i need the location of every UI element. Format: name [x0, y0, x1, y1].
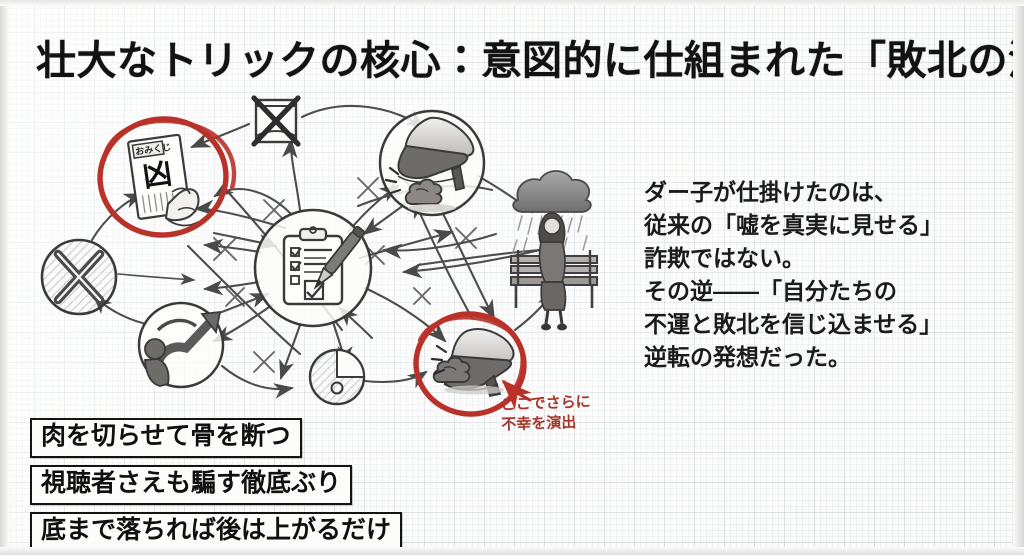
bottom-edge-shadow	[0, 547, 1024, 555]
caption-box-1: 肉を切らせて骨を断つ	[30, 418, 302, 458]
body-line-4: その逆——「自分たちの	[644, 275, 1004, 308]
hand-note-line-2: 不幸を演出	[501, 411, 592, 434]
cross-mark-circle-icon	[42, 240, 116, 314]
shoe-stepping-poop-icon-top	[380, 111, 484, 215]
crossed-out-box-icon	[254, 98, 298, 144]
page-title: 壮大なトリックの核心：意図的に仕組まれた「敗北の演技」	[36, 28, 1024, 86]
caption-box-2: 視聴者さえも騙す徹底ぶり	[30, 465, 352, 505]
slide-canvas: おみくじ 凶	[0, 0, 1024, 555]
body-line-3: 詐欺ではない。	[644, 242, 1004, 275]
left-edge-shadow	[0, 0, 9, 555]
body-line-5: 不運と敗北を信じ込ませる」	[644, 308, 1004, 341]
body-line-1: ダー子が仕掛けたのは、	[644, 176, 1004, 209]
sad-woman-glyph	[539, 213, 567, 330]
rain-cloud-glyph	[513, 171, 591, 212]
top-edge-shadow	[0, 0, 1024, 6]
clipboard-checklist-hub-icon	[255, 210, 371, 326]
omikuji-fortune-icon: おみくじ 凶	[94, 113, 234, 242]
caption-box-3: 底まで落ちれば後は上がるだけ	[30, 512, 402, 552]
sad-woman-rain-bench-icon	[511, 171, 597, 330]
person-up-arrow-icon	[139, 303, 223, 387]
caption-stack: 肉を切らせて骨を断つ 視聴者さえも騙す徹底ぶり 底まで落ちれば後は上がるだけ	[30, 418, 402, 555]
pie-chart-icon	[310, 350, 364, 404]
hand-note-line-1: ここでさらに	[500, 391, 591, 414]
body-line-2: 従来の「嘘を真実に見せる」	[644, 209, 1004, 242]
right-edge-shadow	[1013, 0, 1024, 555]
hand-written-annotation: ここでさらに 不幸を演出	[500, 391, 591, 434]
svg-text:凶: 凶	[141, 157, 174, 194]
body-line-6: 逆転の発想だった。	[644, 341, 1004, 374]
body-copy-block: ダー子が仕掛けたのは、 従来の「嘘を真実に見せる」 詐欺ではない。 その逆——「…	[644, 176, 1004, 374]
